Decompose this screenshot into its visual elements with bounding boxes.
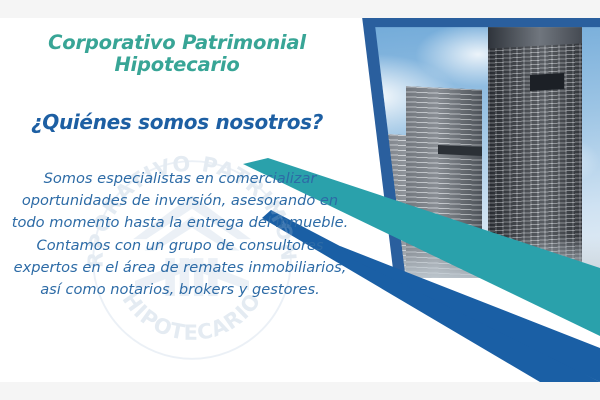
body-paragraph-1: Somos especialistas en comercializar opo… bbox=[4, 168, 356, 235]
body-copy: Somos especialistas en comercializar opo… bbox=[4, 168, 356, 301]
brand-title-line-2: Hipotecario bbox=[12, 54, 342, 76]
brand-title: Corporativo Patrimonial Hipotecario bbox=[12, 32, 342, 76]
building-tower-main-notch bbox=[530, 73, 564, 91]
text-column: Corporativo Patrimonial Hipotecario ¿Qui… bbox=[0, 18, 360, 382]
page-headline: ¿Quiénes somos nosotros? bbox=[6, 110, 348, 134]
brand-title-line-1: Corporativo Patrimonial bbox=[12, 32, 342, 54]
building-skybridge bbox=[438, 145, 482, 156]
body-paragraph-2: Contamos con un grupo de consultores exp… bbox=[4, 235, 356, 302]
real-estate-banner: CORPORATIVO PATRIMONIAL HIPOTECARIO Corp… bbox=[0, 0, 600, 400]
banner-canvas: CORPORATIVO PATRIMONIAL HIPOTECARIO Corp… bbox=[0, 18, 600, 382]
